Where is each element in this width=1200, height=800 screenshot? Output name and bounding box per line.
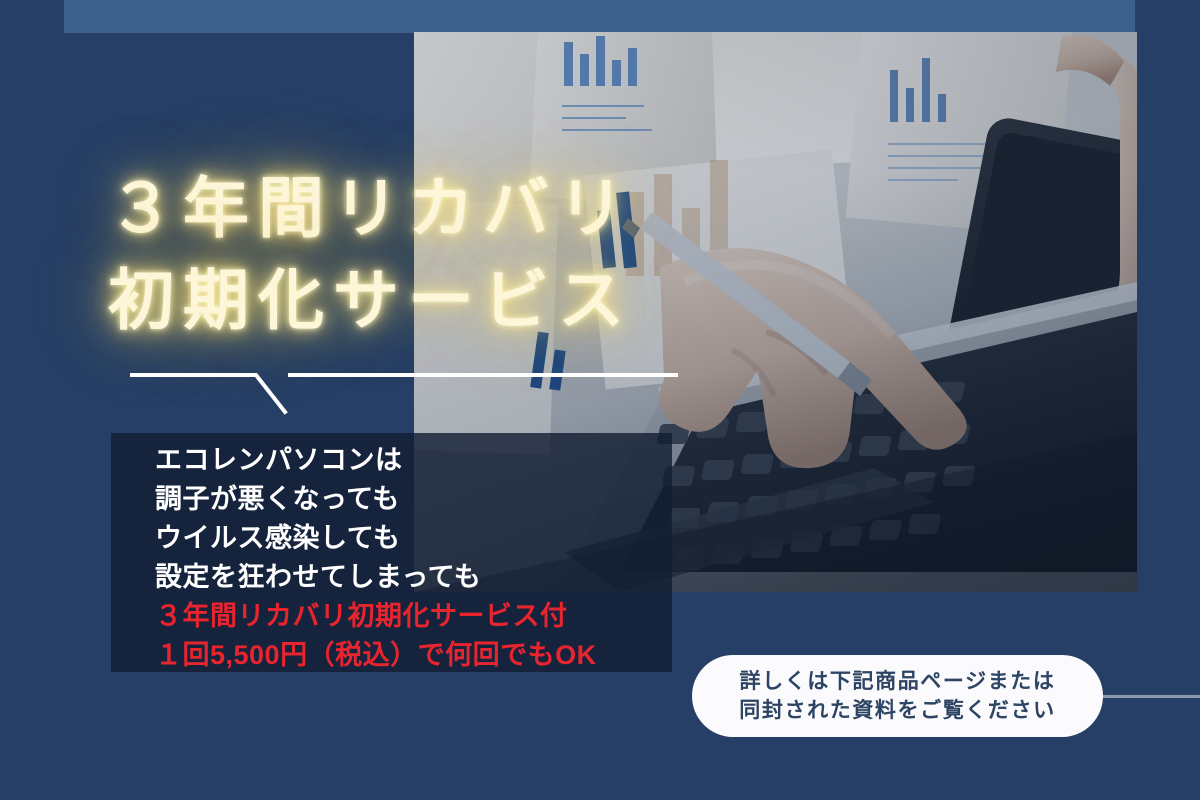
message-line-6-price: １回5,500円（税込）で何回でもOK [155,636,675,675]
callout-line-2: 同封された資料をご覧ください [739,696,1055,725]
callout-leader-line [1093,695,1200,698]
top-accent-bar [64,0,1135,33]
message-line-2: 調子が悪くなっても [155,480,675,519]
message-line-5-highlight: ３年間リカバリ初期化サービス付 [155,597,675,636]
callout-line-1: 詳しくは下記商品ページまたは [740,667,1056,696]
message-line-1: エコレンパソコンは [155,441,675,480]
headline-line-2: 初期化サービス [108,254,868,346]
message-line-3: ウイルス感染しても [155,519,675,558]
callout-pill[interactable]: 詳しくは下記商品ページまたは 同封された資料をご覧ください [692,655,1103,737]
page-title: ３年間リカバリ 初期化サービス [108,162,868,347]
headline-line-1: ３年間リカバリ [108,162,868,254]
promo-banner: ３年間リカバリ 初期化サービス エコレンパソコンは 調子が悪くなっても ウイルス… [0,0,1200,800]
message-text: エコレンパソコンは 調子が悪くなっても ウイルス感染しても 設定を狂わせてしまっ… [155,441,675,675]
message-line-4: 設定を狂わせてしまっても [155,558,675,597]
